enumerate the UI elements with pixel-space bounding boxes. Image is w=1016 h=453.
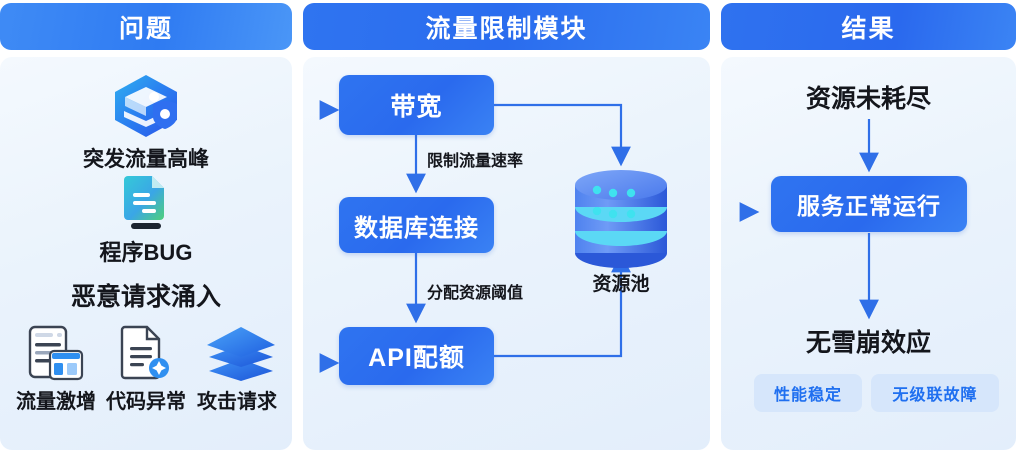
diagram-root: 问题	[0, 0, 1016, 453]
cross-column-connectors	[0, 0, 1016, 453]
